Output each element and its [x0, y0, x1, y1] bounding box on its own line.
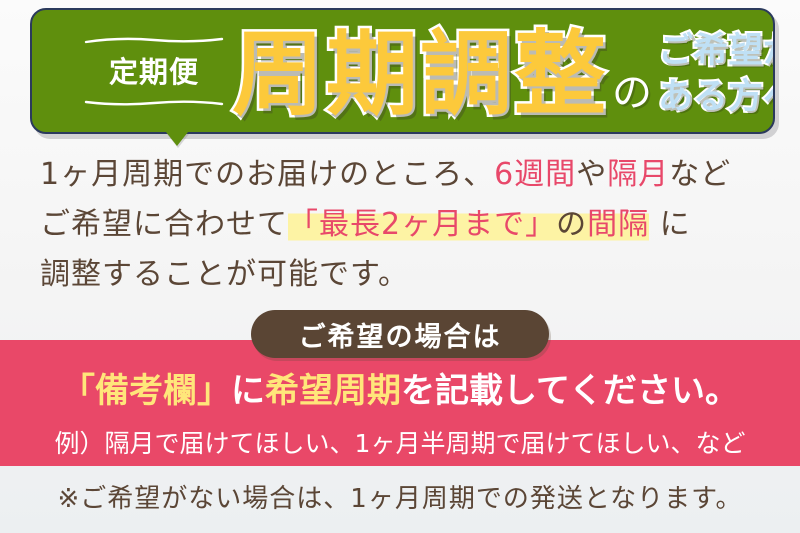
- header-bubble: 定期便 周期調整 の ご希望が ある方へ: [30, 8, 775, 134]
- wave-line-top-icon: [84, 36, 224, 44]
- text-run: 「備考欄」: [61, 371, 231, 411]
- header-wish-line1: ご希望が: [658, 28, 775, 74]
- request-case-pill: ご希望の場合は: [251, 310, 549, 358]
- text-run: に: [649, 207, 691, 242]
- text-run: ご希望に合わせて: [40, 207, 288, 242]
- banner-root: 定期便 周期調整 の ご希望が ある方へ 1ヶ月周期でのお届けのところ、6週間や…: [0, 0, 800, 533]
- subscription-badge: 定期便: [80, 36, 228, 107]
- body-paragraph: 1ヶ月周期でのお届けのところ、6週間や隔月など ご希望に合わせて「最長2ヶ月まで…: [40, 150, 780, 300]
- text-run: に: [231, 371, 265, 411]
- body-line-3: 調整することが可能です。: [40, 250, 780, 300]
- body-line-2: ご希望に合わせて「最長2ヶ月まで」の間隔 に: [40, 200, 780, 250]
- text-run: 間隔: [587, 207, 649, 242]
- header-title: 周期調整: [232, 16, 608, 134]
- speech-bubble-tail-icon: [166, 132, 188, 146]
- band-example-text: 例）隔月で届けてほしい、1ヶ月半周期で届けてほしい、など: [0, 424, 800, 460]
- text-run: 1ヶ月周期でのお届けのところ、: [40, 157, 494, 192]
- request-case-pill-label: ご希望の場合は: [299, 315, 502, 354]
- text-run: や: [576, 157, 607, 192]
- header-particle: の: [612, 60, 652, 118]
- text-run: を記載してください。: [401, 371, 739, 411]
- text-run: の: [556, 207, 587, 242]
- band-main-message: 「備考欄」に希望周期を記載してください。: [0, 363, 800, 412]
- text-run: 6週間: [494, 157, 576, 192]
- text-run: 隔月: [607, 157, 669, 192]
- footer-note: ※ご希望がない場合は、1ヶ月周期での発送となります。: [0, 478, 800, 515]
- header-wish-text: ご希望が ある方へ: [658, 28, 775, 120]
- header-box: 定期便 周期調整 の ご希望が ある方へ: [30, 8, 775, 134]
- text-run: 「最長2ヶ月まで」: [288, 207, 556, 242]
- body-line-1: 1ヶ月周期でのお届けのところ、6週間や隔月など: [40, 150, 780, 200]
- wave-line-bottom-icon: [84, 99, 224, 107]
- subscription-badge-label: 定期便: [80, 44, 228, 99]
- text-run: 調整することが可能です。: [40, 257, 409, 292]
- text-run: 希望周期: [265, 371, 401, 411]
- text-run: など: [669, 157, 731, 192]
- header-wish-line2: ある方へ: [658, 74, 775, 120]
